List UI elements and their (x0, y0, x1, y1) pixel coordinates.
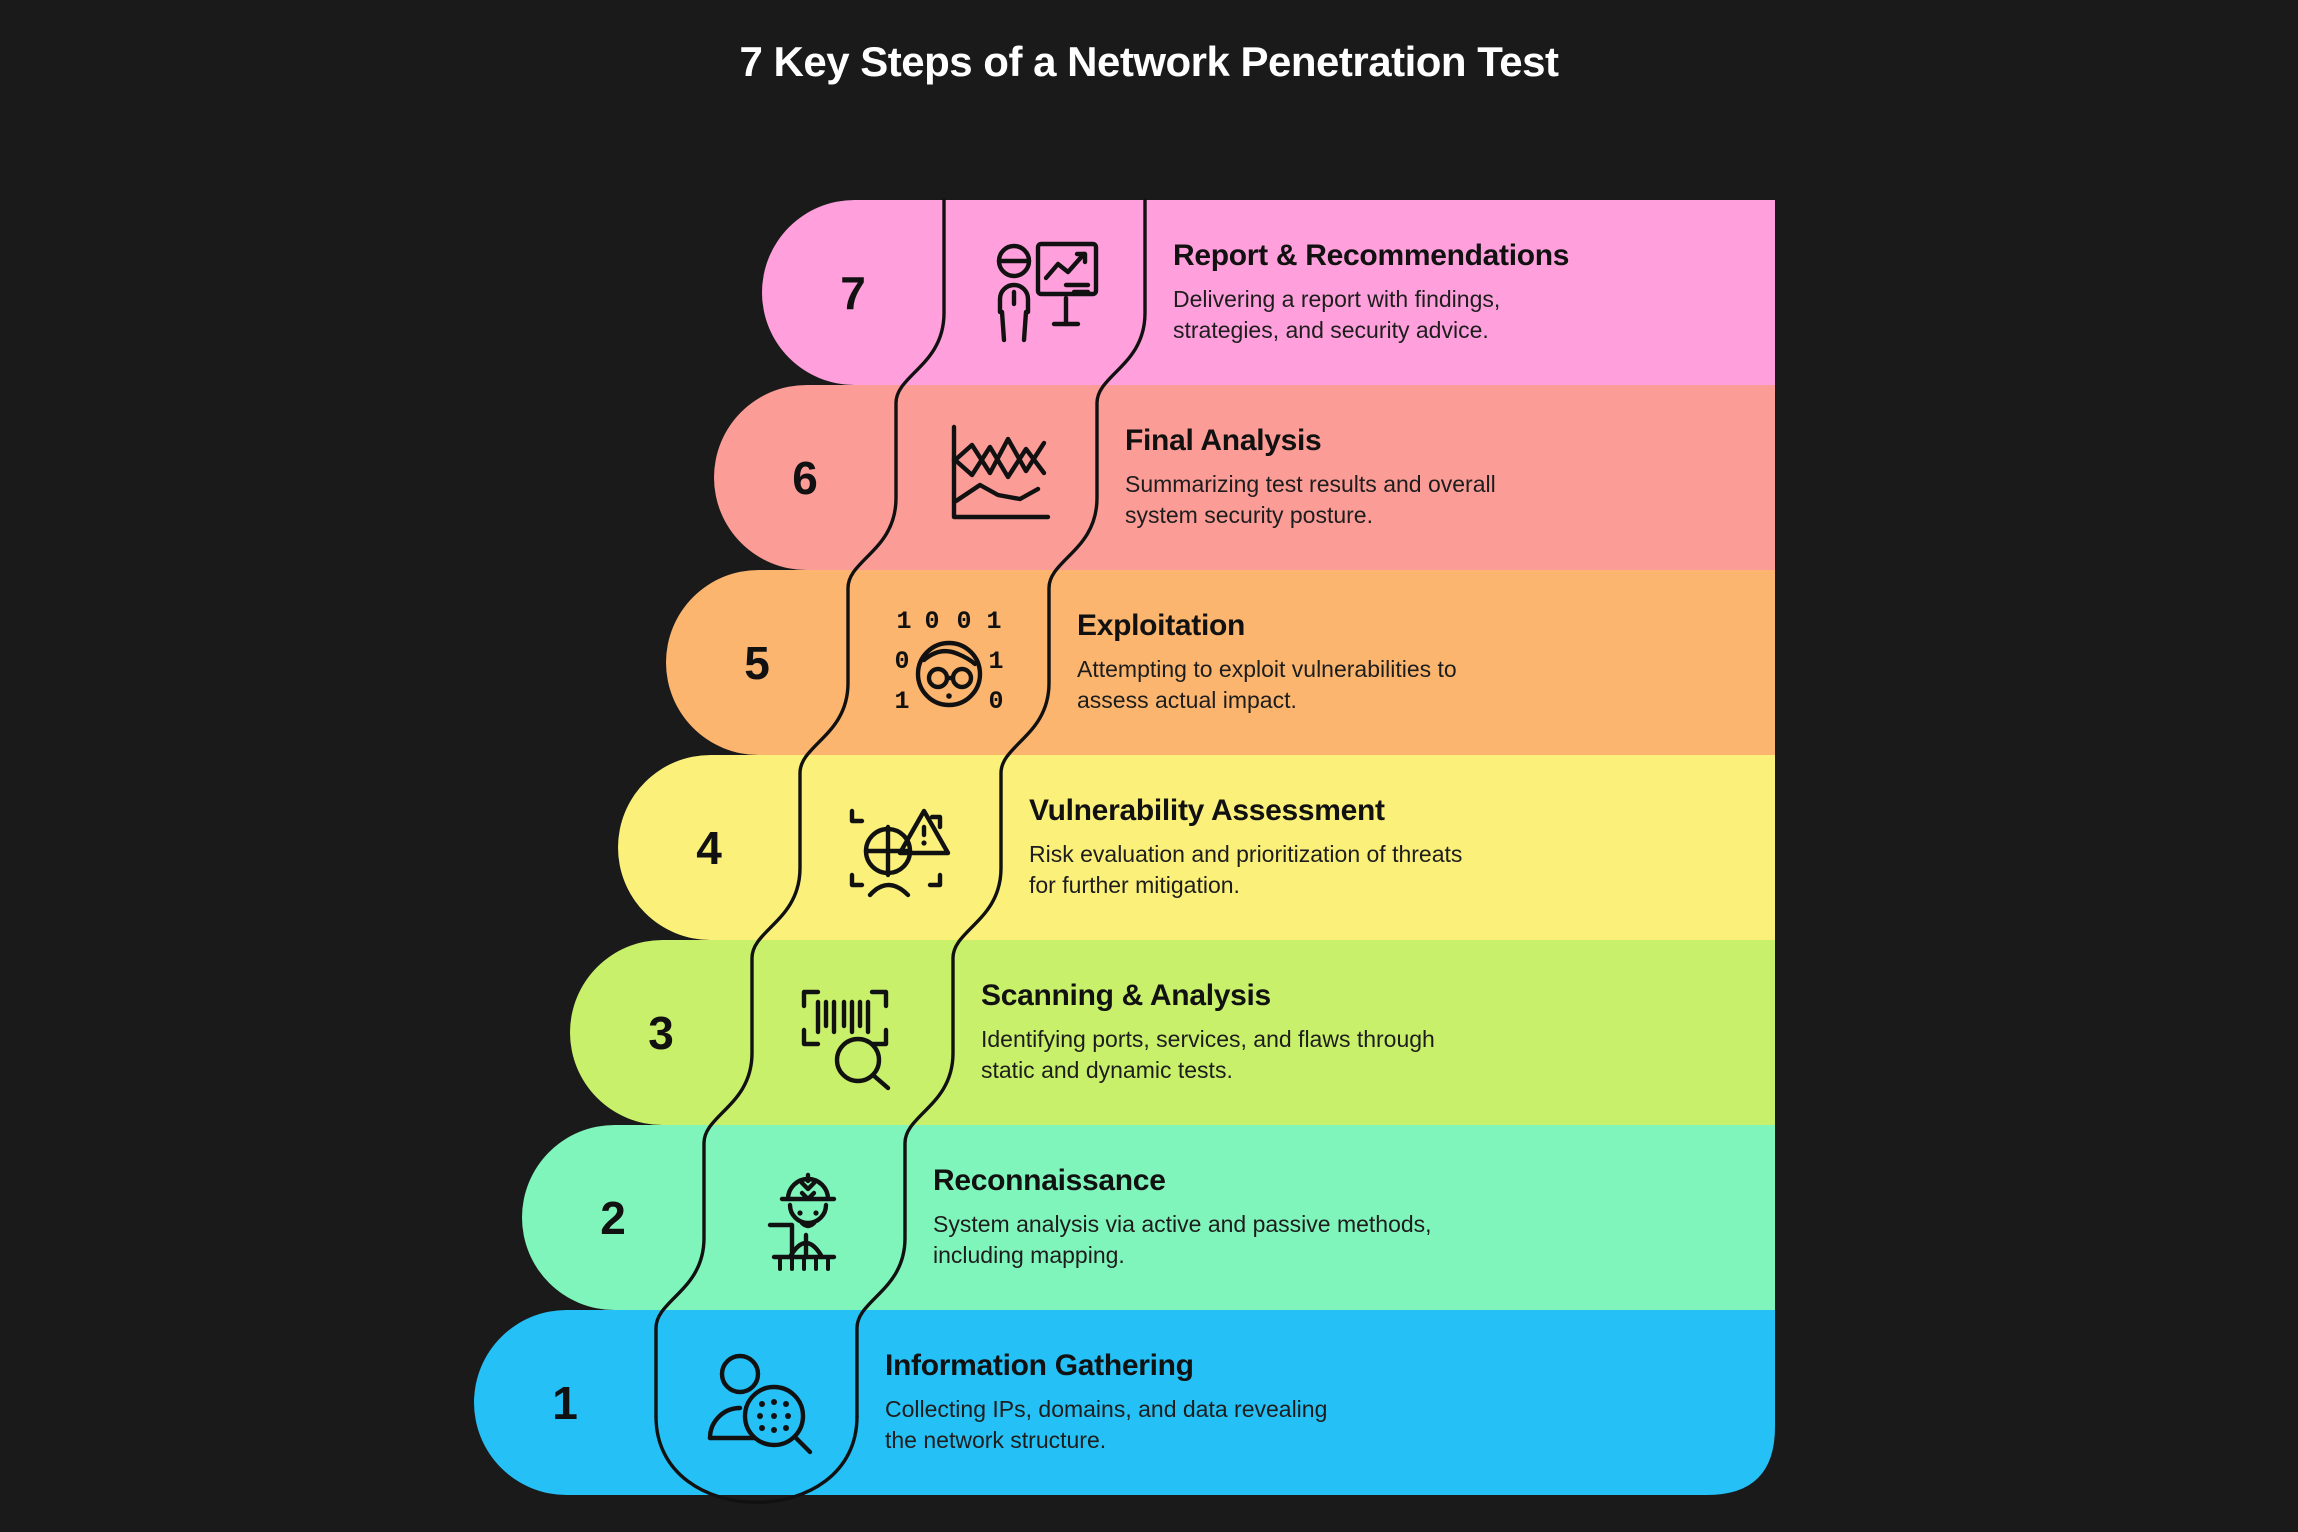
step-text-block: ExploitationAttempting to exploit vulner… (1077, 570, 1753, 755)
user-search-icon (656, 1310, 857, 1495)
svg-text:0: 0 (924, 607, 939, 636)
step-description: Attempting to exploit vulnerabilities to… (1077, 654, 1753, 716)
step-heading: Reconnaissance (933, 1164, 1753, 1197)
barcode-scan-icon (752, 940, 953, 1125)
step-row[interactable]: 1 Information GatheringCollecting IPs, d… (474, 1310, 1775, 1495)
step-number: 4 (618, 755, 800, 940)
svg-text:0: 0 (956, 607, 971, 636)
step-heading: Report & Recommendations (1173, 239, 1753, 272)
step-text-block: Scanning & AnalysisIdentifying ports, se… (981, 940, 1753, 1125)
step-description: System analysis via active and passive m… (933, 1209, 1753, 1271)
line-chart-icon (896, 385, 1097, 570)
step-number: 2 (522, 1125, 704, 1310)
step-heading: Information Gathering (885, 1349, 1753, 1382)
step-row[interactable]: 3 Scanning & AnalysisIdentifying ports, … (570, 940, 1775, 1125)
step-number: 5 (666, 570, 848, 755)
step-text-block: Report & RecommendationsDelivering a rep… (1173, 200, 1753, 385)
step-number: 6 (714, 385, 896, 570)
step-heading: Vulnerability Assessment (1029, 794, 1753, 827)
step-text-block: Information GatheringCollecting IPs, dom… (885, 1310, 1753, 1495)
step-text-block: ReconnaissanceSystem analysis via active… (933, 1125, 1753, 1310)
svg-text:0: 0 (894, 647, 909, 676)
step-description: Summarizing test results and overall sys… (1125, 469, 1753, 531)
step-number: 7 (762, 200, 944, 385)
step-text-block: Vulnerability AssessmentRisk evaluation … (1029, 755, 1753, 940)
step-number: 1 (474, 1310, 656, 1495)
svg-text:1: 1 (894, 687, 909, 716)
svg-text:1: 1 (896, 607, 911, 636)
step-heading: Exploitation (1077, 609, 1753, 642)
penetration-test-steps-infographic: 7 Report & RecommendationsDelivering a r… (0, 0, 2298, 1532)
step-description: Identifying ports, services, and flaws t… (981, 1024, 1753, 1086)
step-row[interactable]: 2 ReconnaissanceSystem analys (522, 1125, 1775, 1310)
svg-text:0: 0 (988, 687, 1003, 716)
step-heading: Scanning & Analysis (981, 979, 1753, 1012)
step-number: 3 (570, 940, 752, 1125)
svg-text:1: 1 (988, 647, 1003, 676)
step-row[interactable]: 7 Report & RecommendationsDelivering a r… (762, 200, 1775, 385)
surveyor-icon (704, 1125, 905, 1310)
risk-warning-icon (800, 755, 1001, 940)
step-description: Collecting IPs, domains, and data reveal… (885, 1394, 1753, 1456)
step-row[interactable]: 4 Vulnerability AssessmentRisk evaluatio… (618, 755, 1775, 940)
step-row[interactable]: 6 Final AnalysisSummarizing test results… (714, 385, 1775, 570)
step-heading: Final Analysis (1125, 424, 1753, 457)
svg-text:1: 1 (986, 607, 1001, 636)
step-row[interactable]: 5 1 0 0 1 0 1 1 0 ExploitationAttempting… (666, 570, 1775, 755)
presenter-chart-icon (944, 200, 1145, 385)
step-description: Risk evaluation and prioritization of th… (1029, 839, 1753, 901)
step-text-block: Final AnalysisSummarizing test results a… (1125, 385, 1753, 570)
hacker-binary-icon: 1 0 0 1 0 1 1 0 (848, 570, 1049, 755)
step-description: Delivering a report with findings, strat… (1173, 284, 1753, 346)
